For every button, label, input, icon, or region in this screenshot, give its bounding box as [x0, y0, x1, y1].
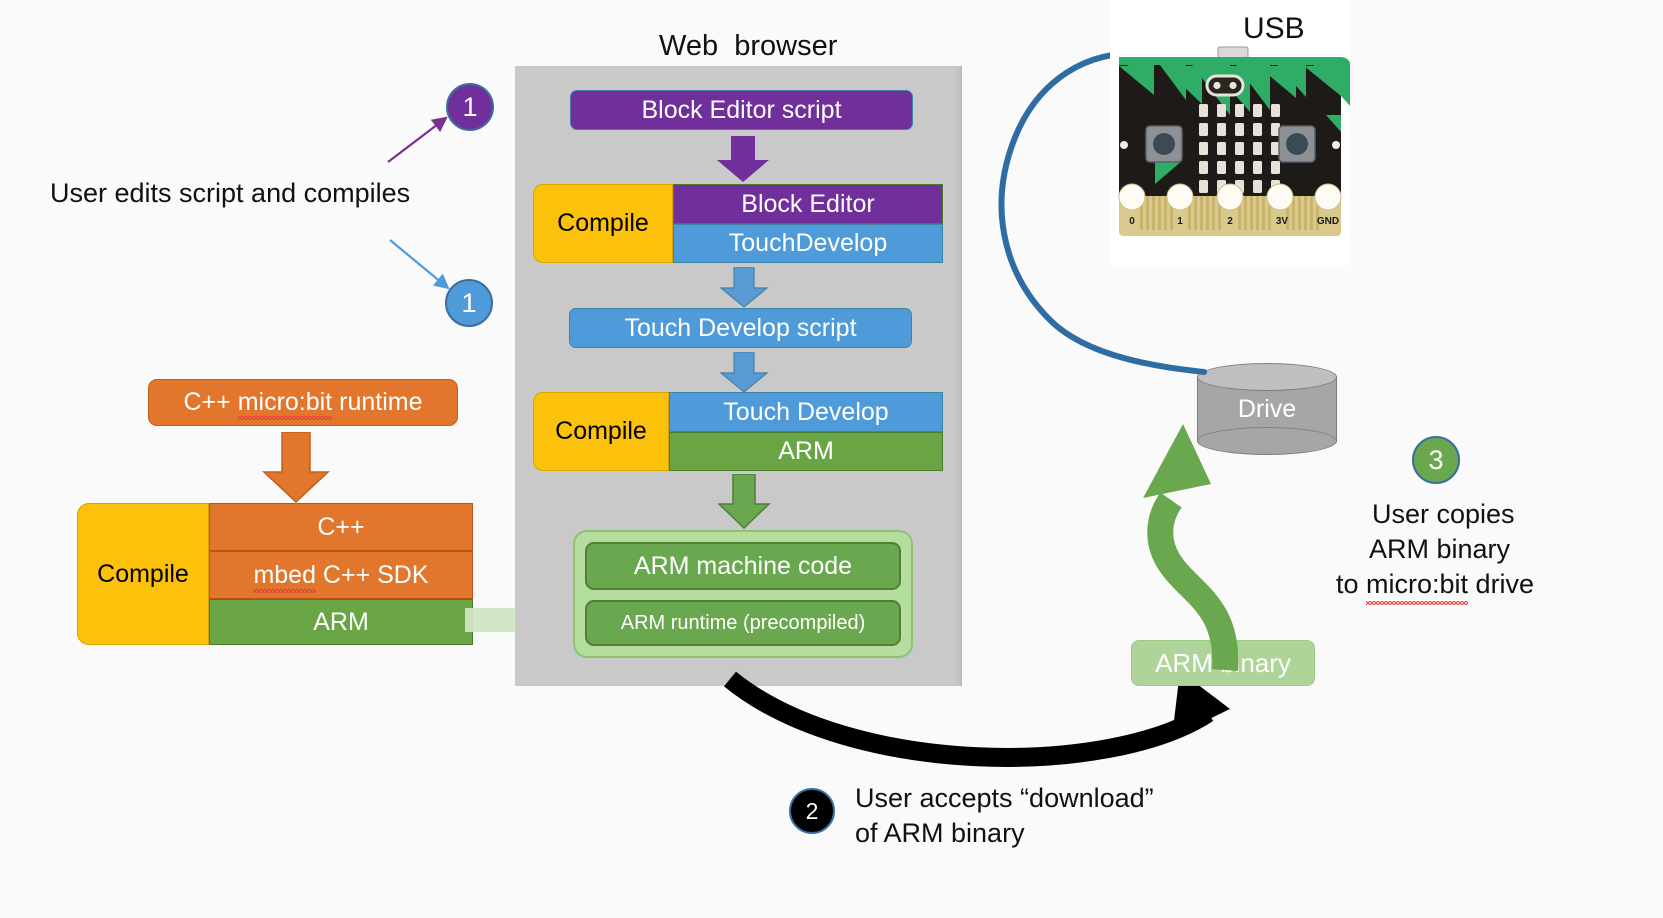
diagram-canvas: User edits script and compiles 1 1 C++ m…	[0, 0, 1663, 918]
green-down-arrow	[718, 474, 772, 530]
step-1-blue-badge: 1	[445, 279, 493, 327]
native-layer-arm: ARM	[209, 599, 473, 645]
browser-compile-tab-2: Compile	[533, 392, 669, 471]
pin-label-1: 1	[1177, 216, 1183, 227]
native-layer-arm-label: ARM	[313, 608, 369, 637]
native-layer-mbed: mbed C++ SDK	[209, 551, 473, 599]
compile-2-target-row: ARM	[669, 432, 943, 471]
compile-2-source-label: Touch Develop	[723, 398, 888, 427]
compile-2-target-label: ARM	[778, 437, 834, 466]
compile-1-target-label: TouchDevelop	[729, 229, 887, 258]
drive-label: Drive	[1238, 395, 1296, 424]
pin-label-gnd: GND	[1317, 216, 1339, 227]
pin-label-2: 2	[1227, 216, 1233, 227]
browser-compile-2-label: Compile	[555, 417, 647, 446]
step-3-badge: 3	[1412, 436, 1460, 484]
native-compile-label: Compile	[97, 560, 189, 589]
native-layer-cpp-label: C++	[317, 513, 364, 542]
step-3-number: 3	[1428, 445, 1443, 476]
step-3-misspelled-word: micro:bit	[1366, 567, 1468, 602]
mbed-misspelled-word: mbed	[253, 561, 316, 590]
step-2-number: 2	[806, 798, 819, 825]
orange-down-arrow	[260, 432, 340, 504]
step-3-line-2: ARM binary	[1369, 532, 1510, 567]
step-2-badge: 2	[789, 788, 835, 834]
native-compile-tab: Compile	[77, 503, 209, 645]
arm-runtime-box: ARM runtime (precompiled)	[585, 600, 901, 646]
pin-label-3v: 3V	[1276, 216, 1289, 227]
arm-machine-code-box: ARM machine code	[585, 542, 901, 590]
cpp-microbit-runtime-pill: C++ micro:bit runtime	[148, 379, 458, 426]
compile-1-source-row: Block Editor	[673, 184, 943, 224]
step-3-line-1: User copies	[1372, 497, 1515, 532]
blue-down-arrow-1	[720, 267, 770, 309]
native-layer-mbed-label: mbed C++ SDK	[253, 561, 428, 590]
touch-develop-script-box: Touch Develop script	[569, 308, 912, 348]
purple-down-arrow	[715, 136, 771, 184]
runtime-pill-misspelled-word: micro:bit	[238, 388, 332, 417]
compile-2-source-row: Touch Develop	[669, 392, 943, 432]
browser-compile-1-label: Compile	[557, 209, 649, 238]
step-3-line-3: to micro:bit drive	[1336, 567, 1534, 602]
microbit-board-photo: 0 1 2 3V GND	[1110, 0, 1350, 265]
pin-label-0: 0	[1129, 216, 1135, 227]
native-layer-cpp: C++	[209, 503, 473, 551]
compile-1-target-row: TouchDevelop	[673, 224, 943, 263]
block-editor-script-box: Block Editor script	[570, 90, 913, 130]
step-1-purple-number: 1	[462, 92, 477, 123]
arm-runtime-label: ARM runtime (precompiled)	[621, 612, 866, 635]
user-edits-label: User edits script and compiles	[50, 176, 410, 211]
step-2-line-2: of ARM binary	[855, 816, 1025, 851]
blue-down-arrow-2	[720, 352, 770, 394]
web-browser-title: Web browser	[659, 30, 837, 63]
step-1-purple-badge: 1	[446, 83, 494, 131]
compile-1-source-label: Block Editor	[741, 190, 874, 219]
block-editor-script-label: Block Editor script	[641, 96, 841, 125]
usb-label: USB	[1243, 12, 1305, 46]
step-2-line-1: User accepts “download”	[855, 781, 1154, 816]
browser-compile-tab-1: Compile	[533, 184, 673, 263]
step-1-blue-number: 1	[461, 288, 476, 319]
touch-develop-script-label: Touch Develop script	[624, 314, 856, 343]
runtime-pill-text: C++ micro:bit runtime	[184, 388, 423, 417]
arm-machine-code-label: ARM machine code	[634, 552, 852, 581]
